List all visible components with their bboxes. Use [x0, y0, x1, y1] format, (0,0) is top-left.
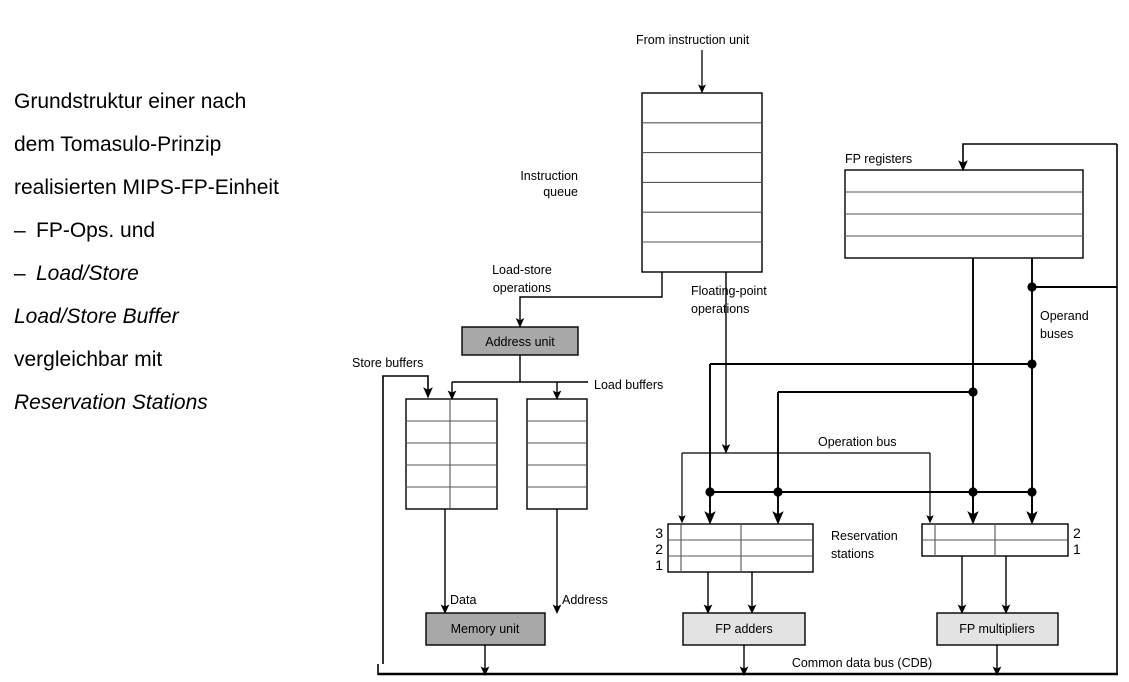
adder-station-number-2: 2: [655, 541, 663, 557]
label-reservation-stations-line2: stations: [831, 547, 874, 561]
label-instruction-queue-line1: Instruction: [520, 169, 578, 183]
junction-dot-bus-b: [773, 487, 782, 496]
path-cdb-to-fp-registers: [963, 144, 1117, 166]
store-buffers-box: [406, 399, 497, 509]
label-operand-buses-line1: Operand: [1040, 309, 1089, 323]
label-data: Data: [450, 593, 476, 607]
label-fp-multipliers: FP multipliers: [959, 622, 1034, 636]
junction-dot-operand-lower: [968, 387, 977, 396]
label-address: Address: [562, 593, 608, 607]
multiplier-station-number-2: 2: [1073, 525, 1081, 541]
label-store-buffers: Store buffers: [352, 356, 423, 370]
label-load-store-operations-line1: Load-store: [492, 263, 552, 277]
label-address-unit: Address unit: [485, 335, 555, 349]
label-memory-unit: Memory unit: [451, 622, 520, 636]
label-fp-registers: FP registers: [845, 152, 912, 166]
junction-dot-bus-a: [705, 487, 714, 496]
label-floating-point-operations-line1: Floating-point: [691, 284, 767, 298]
junction-dot-bus-c: [968, 487, 977, 496]
label-floating-point-operations-line2: operations: [691, 302, 749, 316]
label-instruction-queue-line2: queue: [543, 185, 578, 199]
multiplier-station-number-1: 1: [1073, 541, 1081, 557]
label-from-instruction-unit: From instruction unit: [636, 33, 750, 47]
junction-dot-operand-upper: [1027, 359, 1036, 368]
label-operation-bus: Operation bus: [818, 435, 897, 449]
adder-station-number-3: 3: [655, 525, 663, 541]
adder-station-number-1: 1: [655, 557, 663, 573]
load-buffers-box: [527, 399, 587, 509]
label-reservation-stations-line1: Reservation: [831, 529, 898, 543]
junction-dot-bus-d: [1027, 487, 1036, 496]
slide-root: Grundstruktur einer nach dem Tomasulo-Pr…: [0, 0, 1129, 682]
tomasulo-diagram: From instruction unit Instruction queue …: [0, 0, 1129, 682]
label-fp-adders: FP adders: [715, 622, 772, 636]
label-common-data-bus: Common data bus (CDB): [792, 656, 932, 670]
junction-dots: [705, 282, 1036, 496]
path-load-store-operations: [520, 272, 662, 323]
label-load-buffers: Load buffers: [594, 378, 663, 392]
label-operand-buses-line2: buses: [1040, 327, 1073, 341]
label-load-store-operations-line2: operations: [493, 281, 551, 295]
